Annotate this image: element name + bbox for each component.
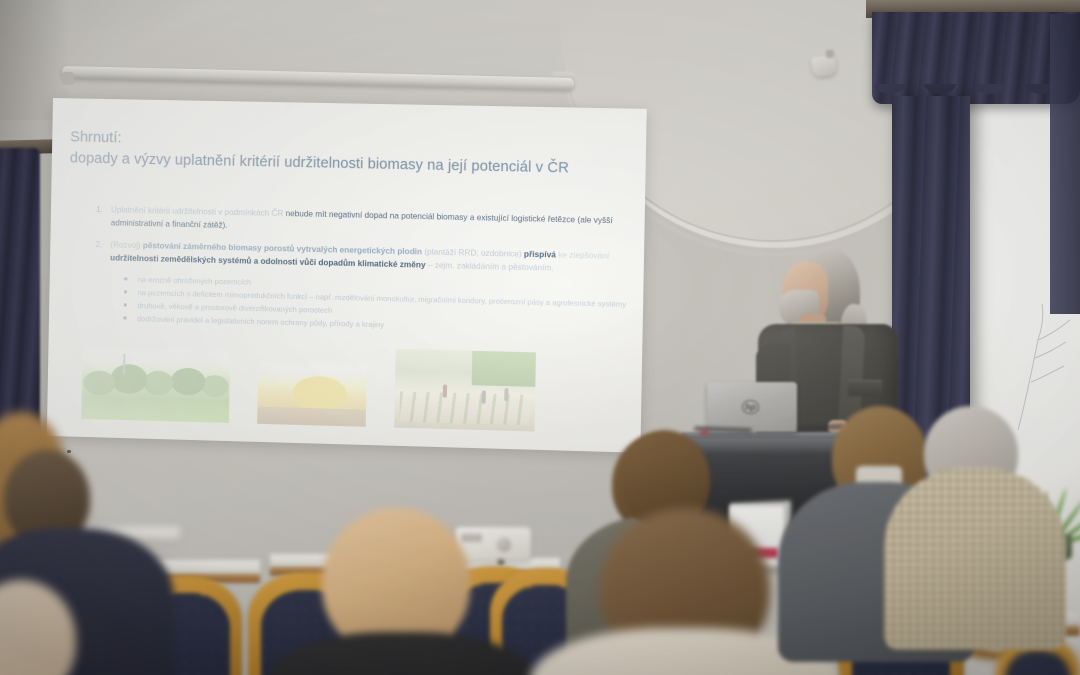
photo-plantation-planting <box>394 349 536 432</box>
far-right-curtain[interactable] <box>1050 14 1080 314</box>
slide-sub-bullets: ■ na erozně ohrožených pozemcích ■ na po… <box>123 274 629 338</box>
projection-screen: Shrnutí: dopady a výzvy uplatnění kritér… <box>47 98 647 453</box>
slide-content: Shrnutí: dopady a výzvy uplatnění kritér… <box>47 98 647 453</box>
lectern-red-device <box>700 430 709 435</box>
conference-room-photo: Shrnutí: dopady a výzvy uplatnění kritér… <box>0 0 1080 675</box>
projector-foot <box>498 560 504 565</box>
slide-title-line2: dopady a výzvy uplatnění kritérií udržit… <box>70 148 632 180</box>
item-part: udržitelnosti zemědělských systémů a odo… <box>110 253 426 269</box>
ceiling-table-projector <box>455 527 531 561</box>
bullet-dot-icon: ■ <box>123 287 128 299</box>
slide-title: Shrnutí: dopady a výzvy uplatnění kritér… <box>69 106 632 201</box>
outside-branch-icon <box>1008 300 1078 430</box>
bullet-dot-icon: ■ <box>124 274 129 286</box>
projector-lens-icon <box>497 538 511 552</box>
bullet-dot-icon: ■ <box>123 300 128 312</box>
left-curtain-panel[interactable] <box>0 148 40 448</box>
hp-logo-icon: hp <box>742 400 759 414</box>
jacket-pocket <box>848 380 882 396</box>
fly-speck <box>67 450 71 453</box>
speaker-bracket <box>826 50 834 58</box>
numbered-item: 1. Uplatnění kritérií udržitelnosti v po… <box>89 202 631 240</box>
slide-numbered-list: 1. Uplatnění kritérií udržitelnosti v po… <box>67 202 630 338</box>
item-part: – zejm. zakládáním a pěstováním. <box>425 260 553 272</box>
item-index: 1. <box>89 202 104 229</box>
item-part: Uplatnění kritérií udržitelnosti v podmí… <box>111 205 283 218</box>
item-part: (plantáží RRD, ozdobnice) <box>422 247 524 258</box>
photo-yellow-bush <box>257 361 367 426</box>
slide-photo-row <box>81 341 536 432</box>
item-index: 2. <box>88 238 103 265</box>
screen-roller-cap <box>62 72 74 85</box>
photo-shrubland-field <box>81 347 230 423</box>
item-part: přispívá <box>524 249 556 259</box>
item-text: Uplatnění kritérií udržitelnosti v podmí… <box>111 203 631 241</box>
item-part: (Rozvoj) <box>110 240 140 250</box>
bullet-dot-icon: ■ <box>123 313 128 325</box>
item-part: ke zlepšování <box>556 250 610 260</box>
projector-vent <box>462 534 482 542</box>
item-text: (Rozvoj) pěstování záměrného biomasy por… <box>110 238 630 276</box>
numbered-item: 2. (Rozvoj) pěstování záměrného biomasy … <box>88 238 630 277</box>
slide-title-line1: Shrnutí: <box>70 129 122 146</box>
